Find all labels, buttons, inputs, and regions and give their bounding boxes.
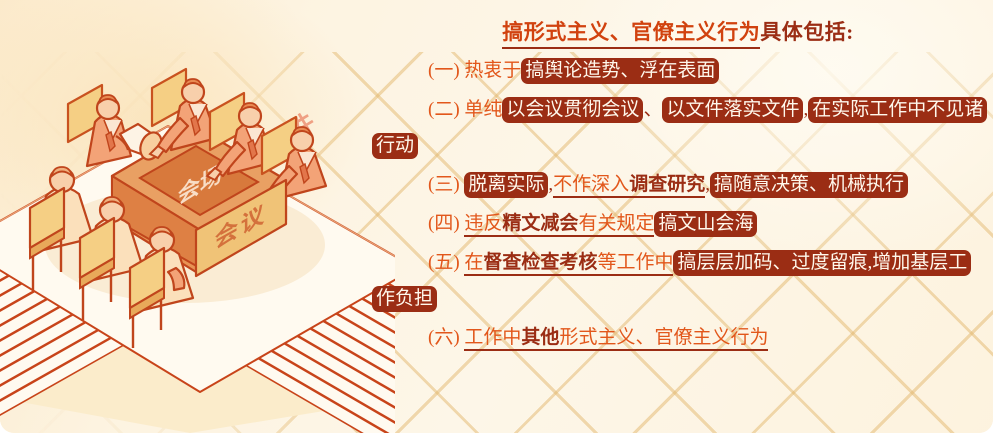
underline-normal: 工作中 xyxy=(464,327,521,348)
item-number: (五) xyxy=(428,252,460,273)
item-number: (三) xyxy=(428,174,460,195)
text-content: 搞形式主义、官僚主义行为具体包括: (一) 热衷于搞舆论造势、浮在表面 (二) … xyxy=(372,16,984,356)
page-title-underlined: 搞形式主义、官僚主义行为 xyxy=(502,20,760,49)
infographic-poster: 文件 会场 xyxy=(0,0,993,433)
item-number: (一) xyxy=(428,60,460,81)
underline-tail: 形式主义、官僚主义行为 xyxy=(559,327,768,348)
item-segment-highlight: 搞文山会海 xyxy=(654,211,757,237)
item-segment-plain: 单纯 xyxy=(464,99,502,120)
list-item: (六) 工作中其他形式主义、官僚主义行为 xyxy=(372,320,984,356)
page-title-tail: 具体包括: xyxy=(760,20,854,44)
item-segment-separator: 、 xyxy=(643,99,662,120)
item-segment-highlight: 脱离实际 xyxy=(464,172,548,198)
item-indent-spacer xyxy=(372,174,428,195)
item-segment-highlight: 以文件落实文件 xyxy=(662,97,803,123)
item-segment-underline: 不作深入调查研究 xyxy=(553,174,705,198)
underline-normal: 在 xyxy=(464,252,483,273)
item-indent-spacer xyxy=(372,99,428,120)
item-number: (四) xyxy=(428,213,460,234)
underline-tail: 等工作中 xyxy=(597,252,673,273)
underline-normal: 不作深入 xyxy=(553,174,629,195)
item-segment-plain: 热衷于 xyxy=(464,60,521,81)
item-segment-underline: 在督查检查考核等工作中 xyxy=(464,252,673,276)
list-item: (二) 单纯以会议贯彻会议、以文件落实文件,在实际工作中不见诸行动 xyxy=(372,92,984,164)
underline-bold: 其他 xyxy=(521,327,559,348)
underline-tail: 有关规定 xyxy=(578,213,654,234)
page-title: 搞形式主义、官僚主义行为具体包括: xyxy=(372,16,984,46)
underline-bold: 精文减会 xyxy=(502,213,578,234)
item-number: (二) xyxy=(428,99,460,120)
list-item: (四) 违反精文减会有关规定搞文山会海 xyxy=(372,206,984,242)
item-segment-highlight: 搞舆论造势、浮在表面 xyxy=(521,58,719,84)
list-item: (五) 在督查检查考核等工作中搞层层加码、过度留痕,增加基层工作负担 xyxy=(372,245,984,317)
underline-bold: 调查研究 xyxy=(629,174,705,195)
item-indent-spacer xyxy=(372,252,428,273)
item-segment-highlight: 搞随意决策、机械执行 xyxy=(710,172,908,198)
underline-normal: 违反 xyxy=(464,213,502,234)
underline-bold: 督查检查考核 xyxy=(483,252,597,273)
item-segment-underline: 违反精文减会有关规定 xyxy=(464,213,654,237)
item-segment-highlight: 以会议贯彻会议 xyxy=(502,97,643,123)
item-number: (六) xyxy=(428,327,460,348)
list-item: (一) 热衷于搞舆论造势、浮在表面 xyxy=(372,53,984,89)
list-item: (三) 脱离实际,不作深入调查研究,搞随意决策、机械执行 xyxy=(372,167,984,203)
meeting-illustration: 文件 会场 xyxy=(0,0,395,433)
item-segment-underline: 工作中其他形式主义、官僚主义行为 xyxy=(464,327,768,351)
